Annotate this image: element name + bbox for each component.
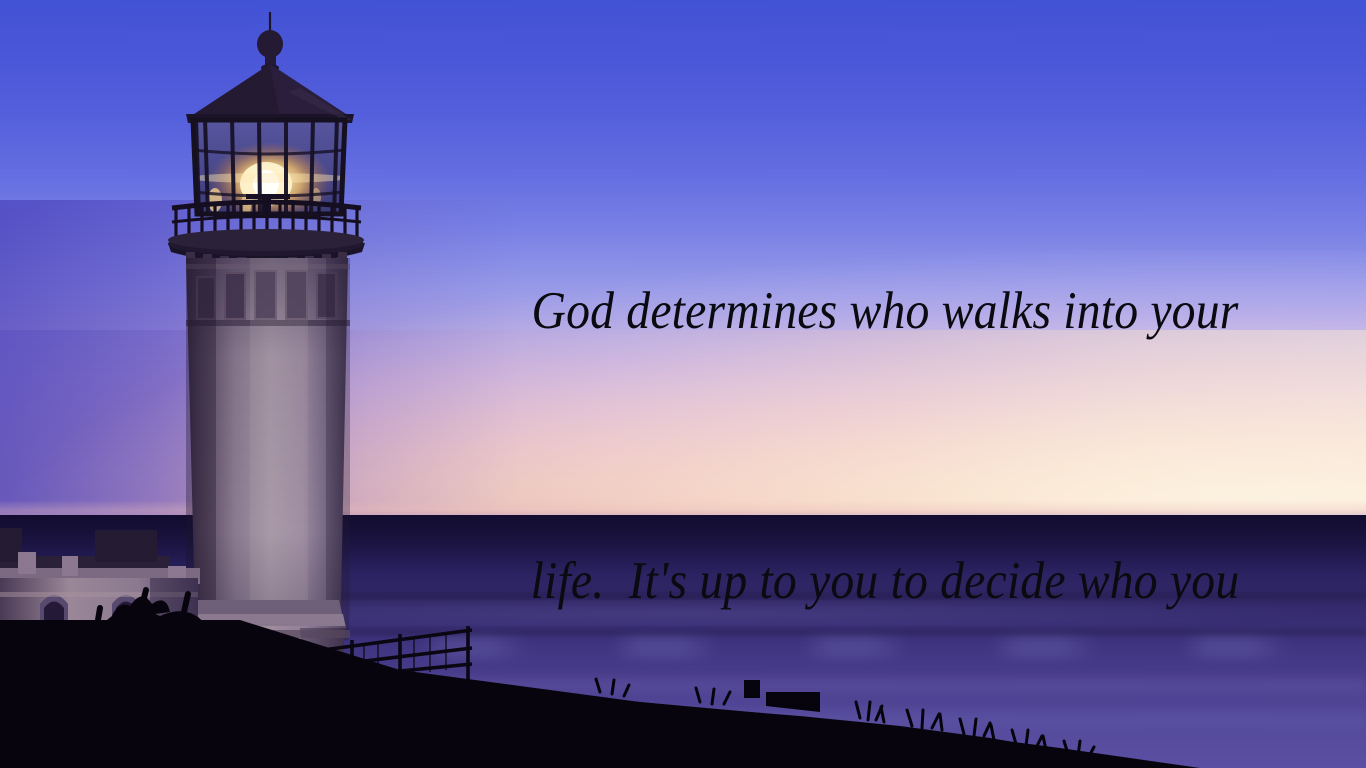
quote-line-2: life. It's up to you to decide who you: [485, 536, 1286, 626]
quote-text: God determines who walks into your life.…: [485, 86, 1286, 768]
quote-line-1: God determines who walks into your: [485, 266, 1286, 356]
wallpaper-canvas: God determines who walks into your life.…: [0, 0, 1366, 768]
